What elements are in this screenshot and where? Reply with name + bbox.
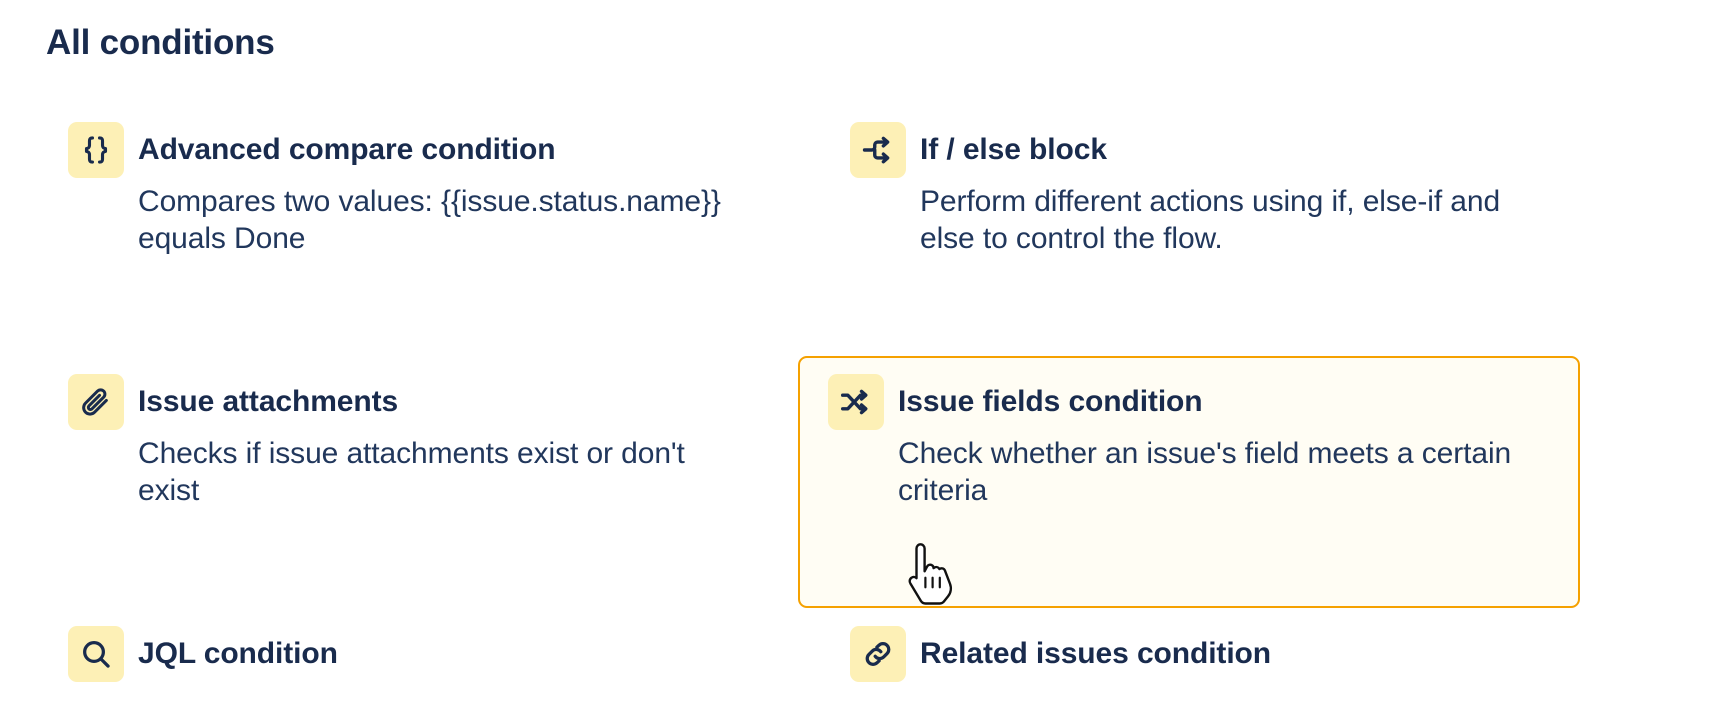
condition-description: Check whether an issue's field meets a c… (898, 436, 1518, 509)
condition-description: Checks if issue attachments exist or don… (138, 436, 738, 509)
card-header: JQL condition (68, 626, 774, 682)
condition-title: If / else block (920, 131, 1107, 169)
card-header: Related issues condition (850, 626, 1556, 682)
curly-braces-icon (68, 122, 124, 178)
all-conditions-panel: All conditions Advanced compare conditio… (0, 0, 1710, 714)
card-header: Advanced compare condition (68, 122, 774, 178)
condition-card-jql-condition[interactable]: JQL condition (16, 608, 798, 714)
condition-card-issue-fields-condition[interactable]: Issue fields condition Check whether an … (798, 356, 1580, 608)
conditions-grid: Advanced compare condition Compares two … (0, 104, 1710, 714)
condition-description: Perform different actions using if, else… (920, 184, 1520, 257)
condition-title: Issue fields condition (898, 383, 1203, 421)
card-header: If / else block (850, 122, 1556, 178)
condition-title: Advanced compare condition (138, 131, 555, 169)
card-header: Issue attachments (68, 374, 774, 430)
condition-card-advanced-compare-condition[interactable]: Advanced compare condition Compares two … (16, 104, 798, 356)
condition-title: Issue attachments (138, 383, 398, 421)
link-chain-icon (850, 626, 906, 682)
paperclip-icon (68, 374, 124, 430)
shuffle-arrows-icon (828, 374, 884, 430)
if-else-branch-icon (850, 122, 906, 178)
condition-card-related-issues-condition[interactable]: Related issues condition (798, 608, 1580, 714)
card-header: Issue fields condition (828, 374, 1556, 430)
condition-card-if-else-block[interactable]: If / else block Perform different action… (798, 104, 1580, 356)
magnifier-icon (68, 626, 124, 682)
condition-description: Compares two values: {{issue.status.name… (138, 184, 738, 257)
condition-card-issue-attachments[interactable]: Issue attachments Checks if issue attach… (16, 356, 798, 608)
condition-title: JQL condition (138, 635, 338, 673)
condition-title: Related issues condition (920, 635, 1271, 673)
page-title: All conditions (46, 22, 275, 64)
